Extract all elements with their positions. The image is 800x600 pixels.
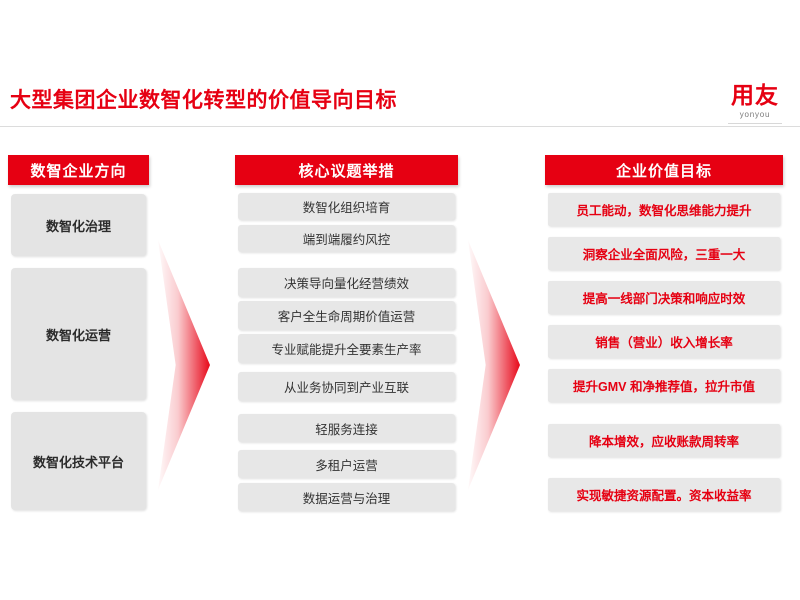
value-goal-item-2[interactable]: 洞察企业全面风险，三重一大 xyxy=(548,237,780,270)
logo-mark: 用友 xyxy=(724,82,786,108)
column-header-initiatives: 核心议题举措 xyxy=(235,155,458,185)
initiative-item-7[interactable]: 轻服务连接 xyxy=(238,414,455,442)
initiative-item-4[interactable]: 客户全生命周期价值运营 xyxy=(238,301,455,330)
value-goal-item-4[interactable]: 销售（营业）收入增长率 xyxy=(548,325,780,358)
value-goal-item-1[interactable]: 员工能动，数智化思维能力提升 xyxy=(548,193,780,226)
title-divider xyxy=(0,126,800,127)
slide-canvas: 大型集团企业数智化转型的价值导向目标 用友 yonyou 数智企业方向 数智化治… xyxy=(0,0,800,600)
value-goal-item-5[interactable]: 提升GMV 和净推荐值，拉升市值 xyxy=(548,369,780,402)
value-goal-item-6[interactable]: 降本增效，应收账款周转率 xyxy=(548,424,780,457)
initiative-item-9[interactable]: 数据运营与治理 xyxy=(238,483,455,511)
initiative-item-5[interactable]: 专业赋能提升全要素生产率 xyxy=(238,334,455,363)
column-header-value-goals: 企业价值目标 xyxy=(545,155,783,185)
page-title: 大型集团企业数智化转型的价值导向目标 xyxy=(10,86,397,116)
yonyou-logo: 用友 yonyou xyxy=(724,82,786,124)
value-goal-item-3[interactable]: 提高一线部门决策和响应时效 xyxy=(548,281,780,314)
initiative-item-8[interactable]: 多租户运营 xyxy=(238,450,455,478)
column-header-direction: 数智企业方向 xyxy=(8,155,149,185)
initiative-item-2[interactable]: 端到端履约风控 xyxy=(238,225,455,252)
initiative-item-3[interactable]: 决策导向量化经营绩效 xyxy=(238,268,455,297)
direction-item-1[interactable]: 数智化治理 xyxy=(11,194,146,256)
direction-item-2[interactable]: 数智化运营 xyxy=(11,268,146,400)
initiative-item-6[interactable]: 从业务协同到产业互联 xyxy=(238,372,455,401)
logo-wordmark: yonyou xyxy=(724,109,786,120)
logo-underline xyxy=(728,123,782,124)
initiative-item-1[interactable]: 数智化组织培育 xyxy=(238,193,455,220)
direction-item-3[interactable]: 数智化技术平台 xyxy=(11,412,146,510)
value-goal-item-7[interactable]: 实现敏捷资源配置。资本收益率 xyxy=(548,478,780,511)
arrow-initiatives-to-goals xyxy=(468,240,520,490)
arrow-direction-to-initiatives xyxy=(158,240,210,490)
